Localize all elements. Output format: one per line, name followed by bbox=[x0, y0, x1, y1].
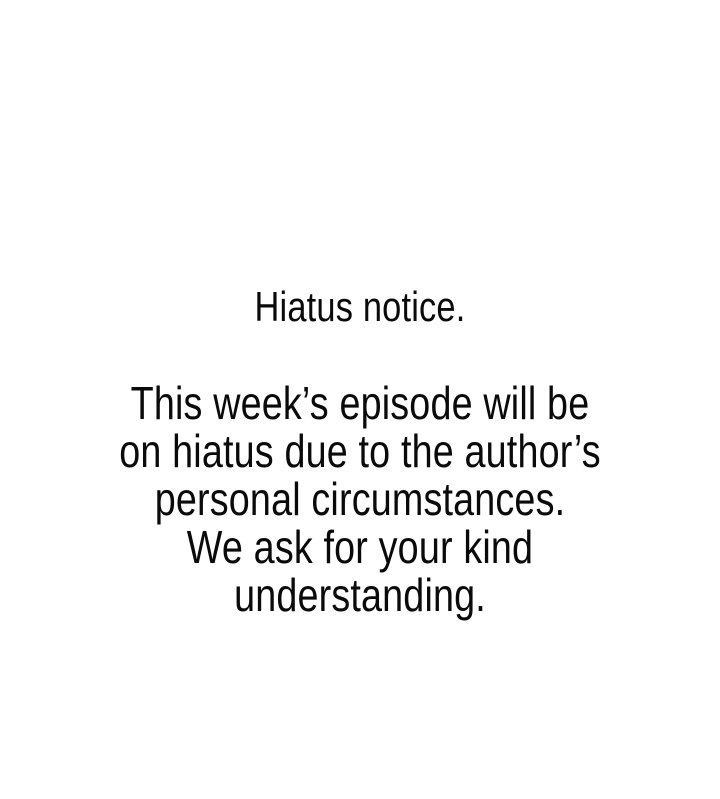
notice-headline: Hiatus notice. bbox=[65, 283, 655, 331]
notice-body-line-5: understanding. bbox=[65, 571, 655, 619]
notice-panel: Hiatus notice. This week’s episode will … bbox=[0, 0, 720, 799]
hiatus-notice-text-block: Hiatus notice. This week’s episode will … bbox=[0, 283, 720, 619]
paragraph-spacer bbox=[65, 331, 655, 379]
notice-body-line-2: on hiatus due to the author’s bbox=[65, 427, 655, 475]
notice-body-line-3: personal circumstances. bbox=[65, 475, 655, 523]
notice-body-line-1: This week’s episode will be bbox=[65, 379, 655, 427]
notice-body-line-4: We ask for your kind bbox=[65, 523, 655, 571]
